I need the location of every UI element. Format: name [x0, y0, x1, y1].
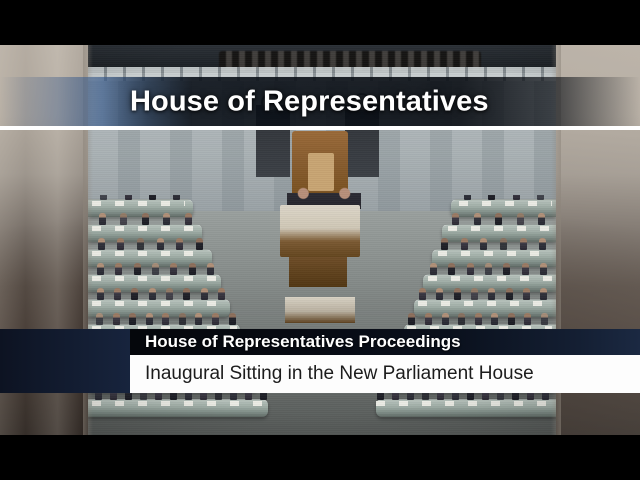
chamber-member-figure — [517, 213, 524, 225]
chamber-member-figure — [471, 288, 478, 300]
chamber-member-figure — [520, 238, 527, 250]
chamber-member-figure — [149, 288, 156, 300]
chamber-member-figure — [117, 238, 124, 250]
chamber-member-figure — [541, 313, 548, 325]
bench-papers — [92, 276, 216, 281]
chamber-member-figure — [185, 213, 192, 225]
chamber-member-figure — [97, 288, 104, 300]
chamber-member-figure — [99, 213, 106, 225]
chamber-member-figure — [538, 213, 545, 225]
chamber-member-figure — [114, 288, 121, 300]
chamber-member-figure — [176, 238, 183, 250]
chamber-member-figure — [162, 313, 169, 325]
chamber-member-figure — [96, 313, 103, 325]
lower-third-heading-text: House of Representatives Proceedings — [130, 332, 461, 352]
chamber-member-figure — [131, 288, 138, 300]
chamber-member-figure — [454, 288, 461, 300]
chamber-member-figure — [442, 313, 449, 325]
bench-papers — [376, 401, 552, 406]
bench-papers — [459, 201, 553, 206]
chamber-table-upper — [280, 205, 360, 257]
chamber-member-figure — [97, 263, 104, 275]
chamber-member-figure — [491, 313, 498, 325]
bench-papers — [418, 301, 553, 306]
chamber-member-figure — [146, 313, 153, 325]
letterbox-bar-bottom — [0, 435, 640, 480]
chamber-member-figure — [98, 238, 105, 250]
lower-third-banner: House of Representatives Proceedings Ina… — [0, 329, 640, 393]
chamber-member-figure — [475, 313, 482, 325]
chamber-member-figure — [142, 213, 149, 225]
lower-third-subtitle-text: Inaugural Sitting in the New Parliament … — [130, 363, 534, 385]
chamber-benches-right — [369, 195, 556, 435]
chamber-member-figure — [179, 313, 186, 325]
chamber-member-figure — [474, 213, 481, 225]
chamber-member-figure — [134, 263, 141, 275]
top-title-text: House of Representatives — [130, 85, 489, 118]
chamber-member-figure — [408, 313, 415, 325]
bench-papers — [92, 251, 206, 256]
chamber-member-figure — [212, 313, 219, 325]
chamber-member-figure — [157, 238, 164, 250]
bench-papers — [92, 401, 268, 406]
top-title-banner: House of Representatives — [0, 77, 640, 126]
chamber-member-figure — [524, 313, 531, 325]
bench-papers — [92, 301, 227, 306]
chamber-member-figure — [513, 195, 520, 200]
chamber-member-figure — [523, 288, 530, 300]
letterbox-bar-top — [0, 0, 640, 45]
chamber-member-figure — [508, 313, 515, 325]
chamber-member-figure — [183, 288, 190, 300]
chamber-member-figure — [173, 195, 180, 200]
chamber-member-figure — [436, 288, 443, 300]
chamber-member-figure — [113, 313, 120, 325]
chamber-member-figure — [506, 288, 513, 300]
chamber-member-figure — [207, 263, 214, 275]
chamber-member-figure — [488, 288, 495, 300]
chamber-member-figure — [120, 213, 127, 225]
chamber-member-figure — [170, 263, 177, 275]
chamber-member-figure — [485, 263, 492, 275]
chamber-member-figure — [115, 263, 122, 275]
chamber-member-figure — [189, 263, 196, 275]
chamber-member-figure — [129, 313, 136, 325]
bench-papers — [448, 226, 552, 231]
chamber-member-figure — [201, 288, 208, 300]
chamber-member-figure — [163, 213, 170, 225]
bench-papers — [428, 276, 552, 281]
bench-papers — [438, 251, 552, 256]
chamber-member-figure — [461, 238, 468, 250]
chamber-member-figure — [149, 195, 156, 200]
chamber-member-figure — [488, 195, 495, 200]
chamber-member-figure — [537, 195, 544, 200]
chamber-member-figure — [125, 195, 132, 200]
chamber-member-figure — [425, 313, 432, 325]
chamber-member-figure — [503, 263, 510, 275]
chamber-table-mid — [289, 257, 347, 287]
chamber-member-figure — [430, 263, 437, 275]
chamber-member-figure — [464, 195, 471, 200]
chamber-member-figure — [195, 313, 202, 325]
chamber-member-figure — [229, 313, 236, 325]
chamber-member-figure — [137, 238, 144, 250]
chamber-member-figure — [196, 238, 203, 250]
chamber-member-figure — [540, 288, 547, 300]
chamber-member-figure — [448, 263, 455, 275]
chamber-member-figure — [500, 238, 507, 250]
bench-papers — [92, 226, 196, 231]
chamber-member-figure — [166, 288, 173, 300]
chamber-member-figure — [480, 238, 487, 250]
chamber-member-figure — [458, 313, 465, 325]
top-horizontal-rule — [0, 126, 640, 130]
video-player-stage: House of Representatives House of Repres… — [0, 0, 640, 480]
chamber-member-figure — [540, 263, 547, 275]
chamber-benches-left — [88, 195, 275, 435]
chamber-member-figure — [100, 195, 107, 200]
chamber-member-figure — [152, 263, 159, 275]
chamber-member-figure — [218, 288, 225, 300]
chamber-member-figure — [467, 263, 474, 275]
lower-third-text-block: House of Representatives Proceedings Ina… — [130, 329, 640, 393]
bench-papers — [92, 201, 186, 206]
chamber-member-figure — [419, 288, 426, 300]
chamber-member-figure — [441, 238, 448, 250]
lower-third-heading-bar: House of Representatives Proceedings — [130, 329, 640, 355]
chamber-member-figure — [522, 263, 529, 275]
chamber-table-lower — [285, 297, 355, 323]
chamber-member-figure — [539, 238, 546, 250]
chamber-member-figure — [452, 213, 459, 225]
lower-third-subtitle-bar: Inaugural Sitting in the New Parliament … — [130, 355, 640, 393]
chamber-member-figure — [495, 213, 502, 225]
